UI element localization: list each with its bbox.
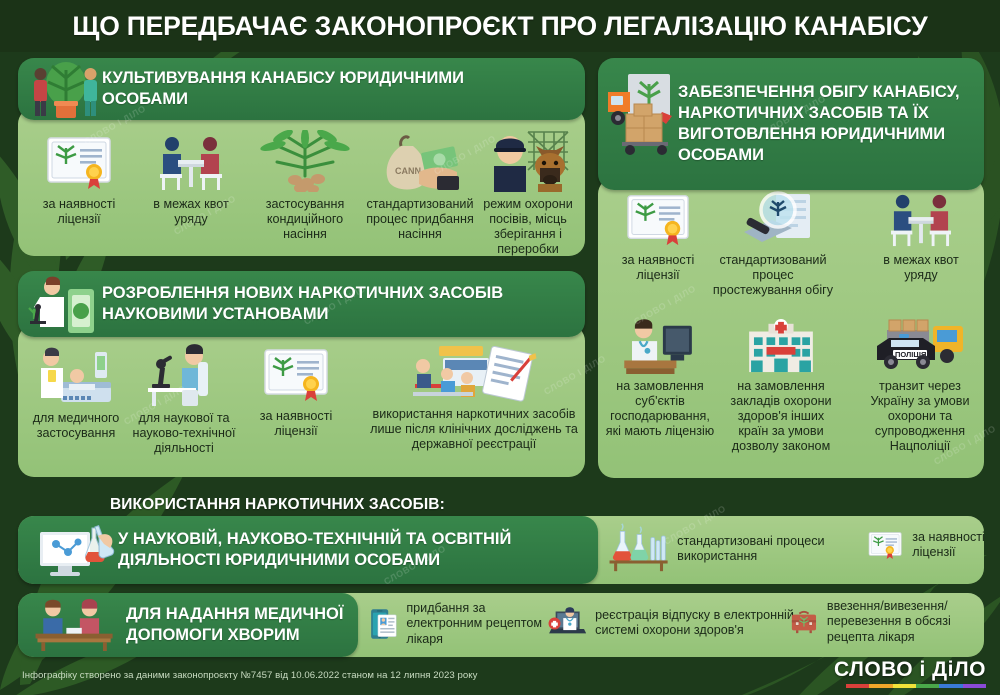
header-scientific-use-text: У НАУКОВІЙ, НАУКОВО-ТЕХНІЧНІЙ ТА ОСВІТНІ…	[118, 529, 568, 571]
item-medical-aid-2: ввезення/вивезення/ перевезення в обсязі…	[790, 597, 990, 647]
item-caption: використання наркотичних засобів лише пі…	[368, 407, 580, 452]
item-research-3: використання наркотичних засобів лише пі…	[368, 340, 580, 452]
brand-logo-text: СЛОВО і ДіЛО	[834, 658, 986, 682]
infographic-title-bar: ЩО ПЕРЕДБАЧАЄ ЗАКОНОПРОЄКТ ПРО ЛЕГАЛІЗАЦ…	[0, 0, 1000, 52]
item-circulation-1: стандартизований процес простежування об…	[712, 190, 834, 298]
item-caption: стандартизований процес придбання насінн…	[360, 197, 480, 242]
brand-logo-bar	[846, 684, 986, 688]
hospital-building-icon	[740, 318, 822, 374]
item-caption: в межах квот уряду	[866, 253, 976, 283]
microscope-researcher-icon	[144, 344, 224, 406]
doctor-at-computer-icon	[619, 318, 701, 374]
item-scientific-use-0: стандартизовані процеси використання	[608, 521, 868, 577]
item-circulation-0: за наявності ліцензії	[606, 190, 710, 283]
license-certificate-icon	[621, 190, 695, 248]
item-scientific-use-1: за наявності ліцензії	[866, 521, 991, 569]
item-caption: стандартизований процес простежування об…	[712, 253, 834, 298]
clinical-trial-checklist-icon	[409, 340, 539, 402]
header-scientific-use: У НАУКОВІЙ, НАУКОВО-ТЕХНІЧНІЙ ТА ОСВІТНІ…	[18, 516, 598, 584]
svg-text:CANN: CANN	[395, 166, 421, 176]
footer-source-note: Інфографіку створено за даними законопро…	[22, 670, 478, 681]
item-caption: за наявності ліцензії	[912, 530, 991, 560]
item-caption: реєстрація відпуску в електронній систем…	[595, 608, 798, 638]
item-research-0: для медичного застосування	[24, 344, 128, 441]
item-caption: в межах квот уряду	[138, 197, 244, 227]
license-certificate-icon	[259, 344, 333, 404]
medical-suitcase-icon	[790, 597, 818, 647]
header-circulation: ЗАБЕЗПЕЧЕННЯ ОБІГУ КАНАБІСУ, НАРКОТИЧНИХ…	[598, 58, 984, 190]
negotiation-table-icon	[878, 190, 964, 248]
lab-flasks-table-icon	[608, 521, 669, 577]
header-medical-aid-text: ДЛЯ НАДАННЯ МЕДИЧНОЇ ДОПОМОГИ ХВОРИМ	[126, 604, 348, 646]
item-cultivation-3: CANN стандартизований процес придбання н…	[360, 132, 480, 242]
item-caption: застосування кондиційного насіння	[250, 197, 360, 242]
license-certificate-icon	[866, 521, 904, 569]
header-research-text: РОЗРОБЛЕННЯ НОВИХ НАРКОТИЧНИХ ЗАСОБІВ НА…	[102, 283, 552, 325]
guard-with-dog-icon	[482, 130, 574, 192]
cannabis-seeds-icon	[257, 130, 353, 192]
e-prescription-phone-icon	[370, 597, 397, 651]
item-caption: стандартизовані процеси використання	[677, 534, 868, 564]
page-title: ЩО ПЕРЕДБАЧАЄ ЗАКОНОПРОЄКТ ПРО ЛЕГАЛІЗАЦ…	[72, 11, 927, 42]
item-caption: придбання за електронним рецептом лікаря	[406, 601, 560, 646]
header-circulation-text: ЗАБЕЗПЕЧЕННЯ ОБІГУ КАНАБІСУ, НАРКОТИЧНИХ…	[678, 82, 974, 165]
item-cultivation-2: застосування кондиційного насіння	[250, 130, 360, 242]
delivery-truck-cargo-icon	[606, 70, 676, 156]
item-caption: режим охорони посівів, місць зберігання …	[474, 197, 582, 257]
police-escort-truck-icon: ПОЛІЦІЯ	[871, 316, 969, 374]
patient-treatment-icon	[35, 344, 117, 406]
item-medical-aid-0: придбання за електронним рецептом лікаря	[370, 597, 560, 651]
item-caption: ввезення/вивезення/ перевезення в обсязі…	[827, 599, 990, 644]
item-caption: за наявності ліцензії	[606, 253, 710, 283]
item-caption: для наукової та науково-технічної діяльн…	[130, 411, 238, 456]
item-cultivation-0: за наявності ліцензії	[24, 132, 134, 227]
license-certificate-icon	[42, 132, 116, 192]
item-caption: за наявності ліцензії	[24, 197, 134, 227]
money-bag-purchase-icon: CANN	[375, 132, 465, 192]
item-circulation-2: в межах квот уряду	[866, 190, 976, 283]
doctor-patient-desk-icon	[30, 599, 122, 651]
item-research-1: для наукової та науково-технічної діяльн…	[130, 344, 238, 456]
item-caption: транзит через Україну за умови охорони т…	[858, 379, 982, 455]
scientist-lab-icon	[28, 275, 102, 335]
computer-lab-research-icon	[30, 520, 116, 580]
magnifier-tracking-icon	[732, 190, 814, 248]
item-circulation-5: ПОЛІЦІЯ транзит через Україну за умови о…	[858, 316, 982, 455]
item-research-2: за наявності ліцензії	[246, 344, 346, 439]
item-circulation-3: на замовлення суб'єктів господарювання, …	[602, 318, 718, 439]
header-research: РОЗРОБЛЕННЯ НОВИХ НАРКОТИЧНИХ ЗАСОБІВ НА…	[18, 271, 585, 337]
header-medical-aid: ДЛЯ НАДАННЯ МЕДИЧНОЇ ДОПОМОГИ ХВОРИМ	[18, 593, 358, 657]
item-cultivation-4: режим охорони посівів, місць зберігання …	[474, 130, 582, 257]
item-caption: на замовлення закладів охорони здоров'я …	[722, 379, 840, 455]
item-caption: для медичного застосування	[24, 411, 128, 441]
item-cultivation-1: в межах квот уряду	[138, 132, 244, 227]
negotiation-table-icon	[148, 132, 234, 192]
header-cultivation-text: КУЛЬТИВУВАННЯ КАНАБІСУ ЮРИДИЧНИМИ ОСОБАМ…	[102, 68, 522, 110]
brand-logo: СЛОВО і ДіЛО	[834, 658, 986, 688]
item-caption: за наявності ліцензії	[246, 409, 346, 439]
item-medical-aid-1: реєстрація відпуску в електронній систем…	[548, 595, 798, 651]
item-caption: на замовлення суб'єктів господарювання, …	[602, 379, 718, 439]
growers-with-plant-icon	[30, 60, 102, 120]
header-cultivation: КУЛЬТИВУВАННЯ КАНАБІСУ ЮРИДИЧНИМИ ОСОБАМ…	[18, 58, 585, 120]
telemedicine-laptop-icon	[548, 595, 586, 651]
item-circulation-4: на замовлення закладів охорони здоров'я …	[722, 318, 840, 455]
usage-section-label: ВИКОРИСТАННЯ НАРКОТИЧНИХ ЗАСОБІВ:	[110, 496, 445, 514]
